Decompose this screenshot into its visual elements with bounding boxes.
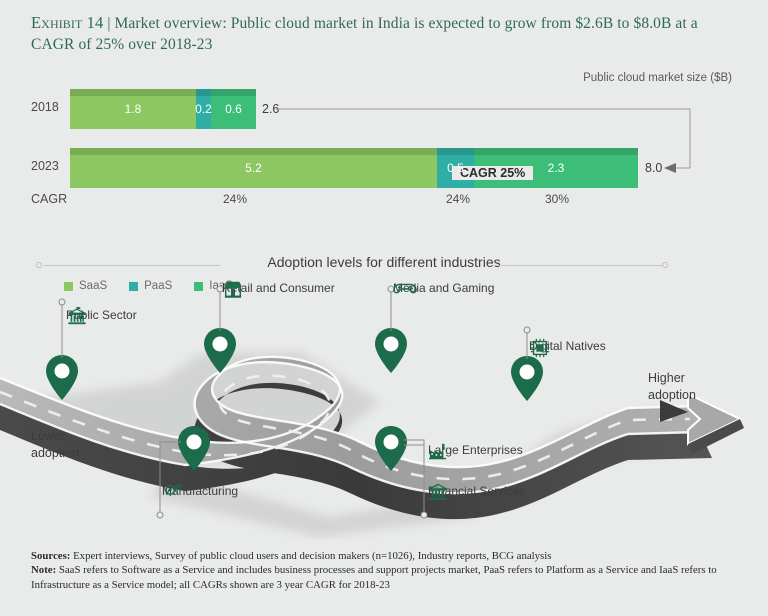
- note-label: Note:: [31, 564, 56, 576]
- bar-segment-paas-2018[interactable]: 0.2: [196, 89, 211, 129]
- bar-segment-saas-2023[interactable]: 5.2: [70, 148, 437, 188]
- gamepad-icon: [393, 279, 417, 299]
- bar-value-label: 0.2: [195, 102, 212, 116]
- bar-top-shade: [70, 89, 196, 96]
- bar-value-label: 1.8: [125, 102, 142, 116]
- bar-top-shade: [211, 89, 256, 96]
- bar-top-shade: [196, 89, 211, 96]
- storefront-icon: [222, 279, 244, 299]
- section-divider-title: Adoption levels for different industries: [0, 254, 768, 270]
- bar-row-2023: 5.2 0.5 2.3: [70, 148, 638, 188]
- title-text: Market overview: Public cloud market in …: [31, 15, 698, 53]
- footnotes: Sources: Expert interviews, Survey of pu…: [31, 549, 737, 592]
- bar-category-2023: 2023: [31, 159, 59, 173]
- bar-value-label: 0.6: [225, 102, 242, 116]
- higher-adoption-line2: adoption: [648, 387, 696, 404]
- industry-large-enterprises[interactable]: Large Enterprises: [428, 442, 523, 457]
- industry-manufacturing[interactable]: Manufacturing: [162, 482, 238, 498]
- industry-digital-natives[interactable]: Digital Natives: [529, 337, 606, 353]
- market-size-bar-chart: Public cloud market size ($B) 2018 1.8 0…: [0, 64, 768, 244]
- industry-financial-services[interactable]: Financial Services: [428, 483, 525, 498]
- industry-public-sector[interactable]: Public Sector: [66, 306, 137, 322]
- note-text: SaaS refers to Software as a Service and…: [31, 564, 717, 590]
- bar-value-label: 0.5: [447, 161, 464, 175]
- microchip-icon: [529, 337, 551, 359]
- section-divider: Adoption levels for different industries: [0, 254, 768, 278]
- lower-adoption-label: Lower adoption: [31, 428, 79, 462]
- page-title: Exhibit 14 | Market overview: Public clo…: [31, 12, 731, 55]
- bar-top-shade: [474, 148, 638, 155]
- sources-label: Sources:: [31, 550, 70, 562]
- bar-top-shade: [437, 148, 474, 155]
- divider-dot-right: [662, 262, 668, 268]
- bar-row-2018: 1.8 0.2 0.6: [70, 89, 256, 129]
- factory-icon: [428, 442, 448, 460]
- bank-columns-icon: [428, 483, 448, 501]
- bar-category-2018: 2018: [31, 100, 59, 114]
- bar-value-label: 5.2: [245, 161, 262, 175]
- exhibit-number: Exhibit 14: [31, 13, 103, 32]
- bank-building-icon: [66, 306, 88, 326]
- adoption-roadmap: Public Sector Retail and Consumer Media …: [0, 282, 768, 540]
- sources-text: Expert interviews, Survey of public clou…: [70, 550, 551, 562]
- industry-retail-consumer[interactable]: Retail and Consumer: [222, 279, 335, 295]
- cagr-row-label: CAGR: [31, 192, 67, 206]
- bar-segment-iaas-2018[interactable]: 0.6: [211, 89, 256, 129]
- note-line: Note: SaaS refers to Software as a Servi…: [31, 563, 737, 592]
- bar-top-shade: [70, 148, 437, 155]
- chart-axis-note: Public cloud market size ($B): [583, 72, 732, 84]
- cagr-value-iaas: 30%: [527, 192, 587, 206]
- bar-value-label: 2.3: [548, 161, 565, 175]
- lower-adoption-line2: adoption: [31, 445, 79, 462]
- cagr-value-saas: 24%: [205, 192, 265, 206]
- cagr-annotation: CAGR 25%: [452, 166, 533, 180]
- divider-line-right: [494, 265, 668, 266]
- sources-line: Sources: Expert interviews, Survey of pu…: [31, 549, 737, 563]
- gears-icon: [162, 482, 184, 500]
- lower-adoption-line1: Lower: [31, 428, 79, 445]
- higher-adoption-line1: Higher: [648, 370, 696, 387]
- cagr-value-paas: 24%: [428, 192, 488, 206]
- higher-adoption-label: Higher adoption: [648, 370, 696, 404]
- bar-total-2018: 2.6: [262, 102, 279, 116]
- industry-media-gaming[interactable]: Media and Gaming: [393, 279, 494, 295]
- title-separator: |: [107, 15, 110, 32]
- bar-total-2023: 8.0: [645, 161, 662, 175]
- bar-segment-saas-2018[interactable]: 1.8: [70, 89, 196, 129]
